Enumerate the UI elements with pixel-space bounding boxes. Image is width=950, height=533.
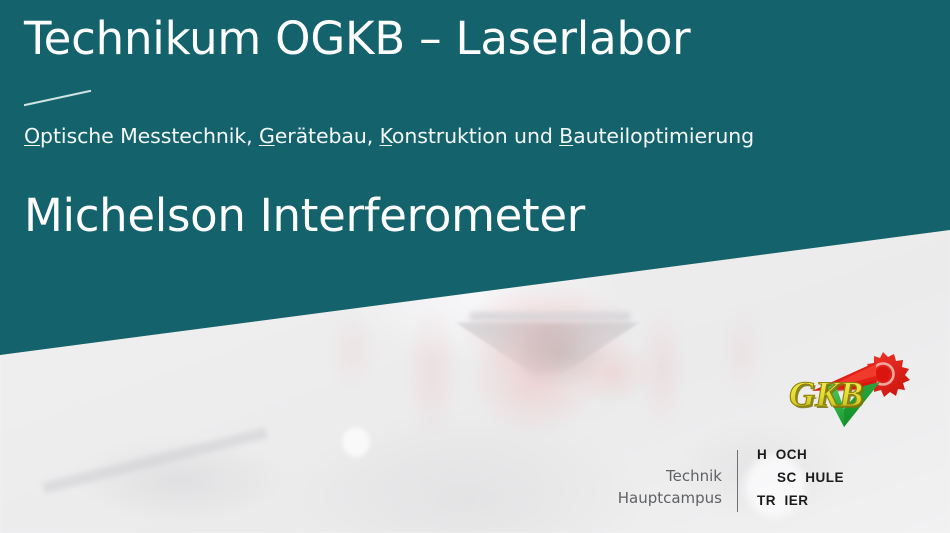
campus-line-hauptcampus: Hauptcampus xyxy=(618,488,722,510)
photo-optics-bar xyxy=(470,312,630,321)
subtitle-text-4: auteiloptimierung xyxy=(573,124,754,148)
gkb-logo: GKB GKB xyxy=(780,352,920,437)
photo-optics-vshape xyxy=(455,322,640,374)
subtitle-text-1: ptische Messtechnik, xyxy=(40,124,259,148)
title-underline-rule xyxy=(24,88,92,110)
photo-highlight-spot-left xyxy=(342,427,370,457)
slide-headline: Michelson Interferometer xyxy=(24,189,585,242)
footer-divider xyxy=(737,450,738,512)
slide-subtitle: Optische Messtechnik, Gerätebau, Konstru… xyxy=(24,124,754,148)
presentation-slide: Technikum OGKB – Laserlabor Optische Mes… xyxy=(0,0,950,533)
svg-text:GKB: GKB xyxy=(789,374,863,414)
hochschule-logo-line3: TR IER xyxy=(757,494,809,508)
slide-title: Technikum OGKB – Laserlabor xyxy=(24,14,690,64)
campus-label: Technik Hauptcampus xyxy=(618,466,722,510)
gkb-letters: GKB GKB xyxy=(789,374,865,416)
subtitle-text-3: onstruktion und xyxy=(392,124,559,148)
photo-optical-rail xyxy=(42,427,268,493)
hochschule-logo-line2: SC HULE xyxy=(777,471,844,485)
subtitle-initial-o: O xyxy=(24,124,40,148)
hochschule-logo-line1: H OCH xyxy=(757,448,807,462)
subtitle-initial-k: K xyxy=(380,124,392,148)
campus-line-technik: Technik xyxy=(618,466,722,488)
subtitle-initial-b: B xyxy=(559,124,573,148)
subtitle-text-2: erätebau, xyxy=(275,124,380,148)
subtitle-initial-g: G xyxy=(259,124,275,148)
